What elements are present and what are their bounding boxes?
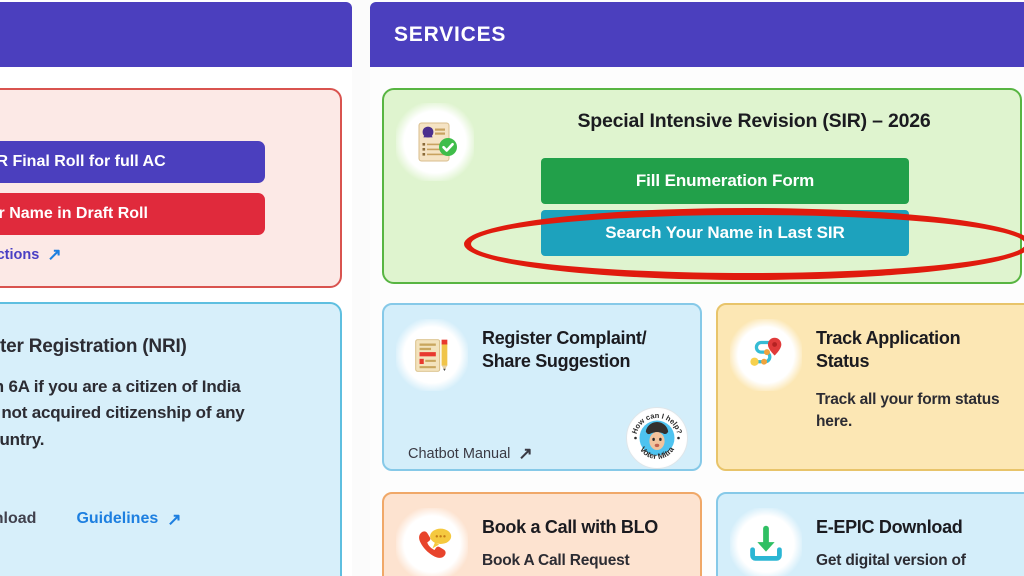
new-voter-registration-actions: Download Guidelines ↗	[0, 510, 181, 528]
download-tray-icon	[730, 508, 802, 576]
download-label: Download	[0, 510, 36, 528]
book-a-call-with-blo-subtitle: Book A Call Request	[482, 550, 682, 572]
page-root: ownload SIR Final Roll for full AC Searc…	[0, 0, 1024, 576]
e-epic-download-subtitle: Get digital version of	[816, 550, 1016, 572]
e-epic-download-title: E-EPIC Download	[816, 516, 1024, 539]
register-complaint-title-line2: Share Suggestion	[482, 351, 630, 371]
track-title-line2: Status	[816, 351, 869, 371]
track-title-line1: Track Application	[816, 328, 960, 348]
sir-form-check-icon	[396, 103, 474, 181]
track-application-status-card[interactable]: Track Application Status Track all your …	[716, 303, 1024, 471]
guidelines-link[interactable]: Guidelines ↗	[76, 510, 181, 528]
panel-divider	[352, 0, 370, 576]
download-sir-final-roll-button[interactable]: ownload SIR Final Roll for full AC	[0, 141, 265, 183]
route-pin-icon	[730, 319, 802, 391]
phone-chat-icon	[396, 508, 468, 576]
fill-enumeration-form-button[interactable]: Fill Enumeration Form	[541, 158, 909, 204]
book-a-call-with-blo-card[interactable]: Book a Call with BLO Book A Call Request	[382, 492, 702, 576]
left-panel: ownload SIR Final Roll for full AC Searc…	[0, 0, 352, 576]
new-voter-registration-card: New Voter Registration (NRI) Fill Form 6…	[0, 302, 342, 576]
arrow-up-right-icon: ↗	[167, 511, 181, 528]
document-pencil-icon	[396, 319, 468, 391]
e-epic-download-card[interactable]: E-EPIC Download Get digital version of	[716, 492, 1024, 576]
fill-enumeration-form-label: Fill Enumeration Form	[636, 171, 814, 191]
chatbot-manual-link[interactable]: Chatbot Manual ↗	[408, 445, 533, 462]
search-name-last-sir-label: Search Your Name in Last SIR	[605, 223, 844, 243]
search-name-draft-roll-button[interactable]: Search Your Name in Draft Roll	[0, 193, 265, 235]
download-sir-final-roll-label: ownload SIR Final Roll for full AC	[0, 153, 166, 171]
search-name-last-sir-button[interactable]: Search Your Name in Last SIR	[541, 210, 909, 256]
guidelines-label: Guidelines	[76, 510, 158, 528]
book-a-call-with-blo-title: Book a Call with BLO	[482, 516, 692, 539]
services-title: SERVICES	[394, 23, 506, 47]
arrow-up-right-icon: ↗	[518, 445, 532, 462]
arrow-up-right-icon: ↗	[47, 246, 61, 263]
register-complaint-title-line1: Register Complaint/	[482, 328, 646, 348]
new-voter-registration-title: New Voter Registration (NRI)	[0, 336, 340, 358]
forms-and-objections-label: ms and objections	[0, 247, 39, 263]
voter-mitra-chatbot-badge[interactable]: How can I help? Voter Mitra	[626, 407, 688, 469]
download-button[interactable]: Download	[0, 510, 36, 528]
new-voter-registration-body: Fill Form 6A if you are a citizen of Ind…	[0, 374, 264, 453]
track-application-status-title: Track Application Status	[816, 327, 1024, 373]
forms-and-objections-link[interactable]: ms and objections ↗	[0, 246, 62, 263]
search-name-draft-roll-label: Search Your Name in Draft Roll	[0, 205, 148, 223]
sir-2026-card: Special Intensive Revision (SIR) – 2026 …	[382, 88, 1022, 284]
track-application-status-subtitle: Track all your form status here.	[816, 389, 1016, 434]
services-panel: SERVICES	[370, 0, 1024, 576]
sir-card-title: Special Intensive Revision (SIR) – 2026	[494, 110, 1014, 133]
register-complaint-card[interactable]: Register Complaint/ Share Suggestion Cha…	[382, 303, 702, 471]
left-panel-header	[0, 2, 352, 67]
chatbot-manual-label: Chatbot Manual	[408, 446, 510, 462]
services-header: SERVICES	[370, 2, 1024, 67]
register-complaint-title: Register Complaint/ Share Suggestion	[482, 327, 692, 373]
